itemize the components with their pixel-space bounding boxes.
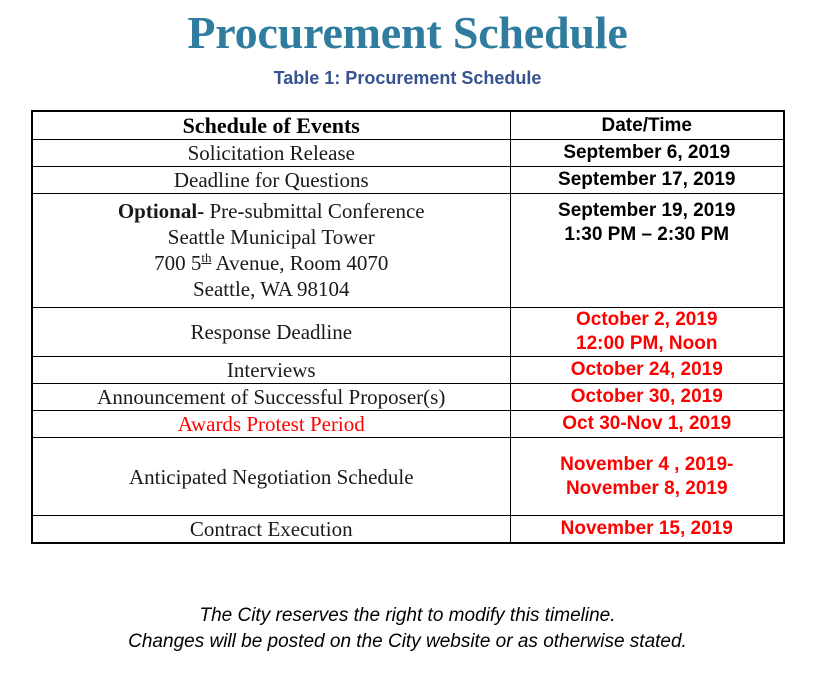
date-line: November 4 , 2019- [511,453,784,477]
date-line: October 30, 2019 [511,385,784,409]
table-body: Solicitation Release September 6, 2019 D… [32,140,784,544]
optional-label: Optional- [118,199,204,223]
date-cell: November 15, 2019 [510,516,784,544]
table-row: Anticipated Negotiation Schedule Novembe… [32,438,784,516]
table-row: Solicitation Release September 6, 2019 [32,140,784,167]
date-cell: October 2, 2019 12:00 PM, Noon [510,308,784,357]
date-cell: Oct 30-Nov 1, 2019 [510,411,784,438]
column-header-events: Schedule of Events [32,111,510,140]
event-cell: Response Deadline [32,308,510,357]
page-title: Procurement Schedule [0,0,815,60]
date-line: September 19, 2019 [511,199,784,223]
date-line: November 15, 2019 [511,517,784,541]
date-cell: October 30, 2019 [510,384,784,411]
event-cell: Optional- Pre-submittal Conference Seatt… [32,194,510,308]
event-cell: Announcement of Successful Proposer(s) [32,384,510,411]
column-header-date: Date/Time [510,111,784,140]
date-cell: September 6, 2019 [510,140,784,167]
date-line: September 6, 2019 [511,141,784,165]
event-line: Optional- Pre-submittal Conference [33,198,510,224]
schedule-table-wrapper: Schedule of Events Date/Time Solicitatio… [31,110,785,544]
event-line-address: 700 5th Avenue, Room 4070 [33,250,510,276]
table-row: Contract Execution November 15, 2019 [32,516,784,544]
date-cell: November 4 , 2019- November 8, 2019 [510,438,784,516]
table-row: Optional- Pre-submittal Conference Seatt… [32,194,784,308]
event-line: Seattle Municipal Tower [33,224,510,250]
event-cell: Contract Execution [32,516,510,544]
disclaimer-note: The City reserves the right to modify th… [0,603,815,655]
event-cell: Anticipated Negotiation Schedule [32,438,510,516]
date-cell: September 17, 2019 [510,167,784,194]
table-row: Announcement of Successful Proposer(s) O… [32,384,784,411]
ordinal-suffix: th [201,250,211,265]
event-line-text: Pre-submittal Conference [204,199,424,223]
date-line: 12:00 PM, Noon [511,332,784,356]
event-cell: Interviews [32,357,510,384]
date-cell: October 24, 2019 [510,357,784,384]
disclaimer-line-1: The City reserves the right to modify th… [0,603,815,629]
event-cell: Solicitation Release [32,140,510,167]
table-row: Interviews October 24, 2019 [32,357,784,384]
date-line: September 17, 2019 [511,168,784,192]
disclaimer-line-2: Changes will be posted on the City websi… [0,629,815,655]
event-line: Seattle, WA 98104 [33,276,510,302]
date-line: October 2, 2019 [511,308,784,332]
date-line: 1:30 PM – 2:30 PM [511,223,784,247]
table-row: Awards Protest Period Oct 30-Nov 1, 2019 [32,411,784,438]
date-cell: September 19, 2019 1:30 PM – 2:30 PM [510,194,784,308]
date-line: Oct 30-Nov 1, 2019 [511,412,784,436]
date-line: October 24, 2019 [511,358,784,382]
table-header-row: Schedule of Events Date/Time [32,111,784,140]
table-row: Deadline for Questions September 17, 201… [32,167,784,194]
date-line: November 8, 2019 [511,477,784,501]
procurement-schedule-table: Schedule of Events Date/Time Solicitatio… [31,110,785,544]
table-row: Response Deadline October 2, 2019 12:00 … [32,308,784,357]
event-cell: Awards Protest Period [32,411,510,438]
table-caption: Table 1: Procurement Schedule [0,60,815,89]
event-cell: Deadline for Questions [32,167,510,194]
procurement-schedule-page: Procurement Schedule Table 1: Procuremen… [0,0,815,682]
